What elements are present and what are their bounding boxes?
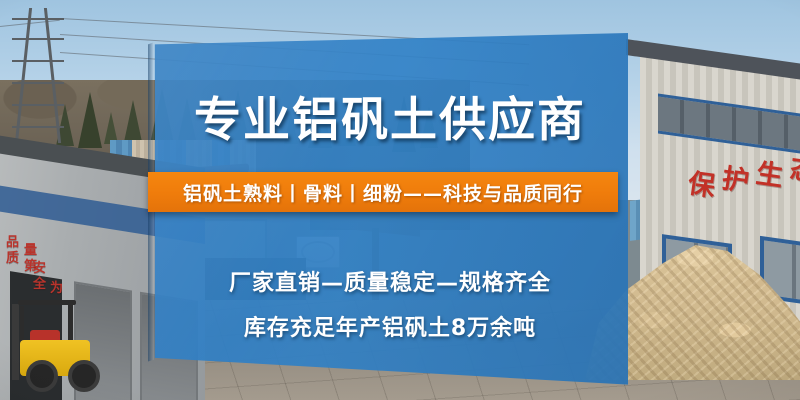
wall-sign-char: 品 [6, 236, 19, 249]
tree [78, 92, 102, 148]
wall-sign-char: 安 [33, 262, 46, 275]
wall-sign-char: 全 [33, 278, 46, 291]
wall-sign-char: 护 [720, 165, 750, 195]
power-pylon [8, 8, 68, 143]
wall-sign-char: 量 [24, 244, 37, 257]
clerestory-window [658, 94, 800, 155]
headline-title: 专业铝矾土供应商 [152, 95, 628, 147]
banner-content: 专业铝矾土供应商 铝矾土熟料丨骨料丨细粉——科技与品质同行 厂家直销—质量稳定—… [152, 33, 628, 390]
tree [124, 100, 142, 142]
forklift-mast [12, 304, 19, 380]
forklift-wheel [68, 360, 100, 392]
wall-sign-char: 生 [754, 160, 784, 190]
forklift-wheel [26, 360, 58, 392]
subline-one: 厂家直销—质量稳定—规格齐全 [152, 265, 628, 297]
subline-two: 库存充足年产铝矾土8万余吨 [152, 310, 628, 342]
forklift [12, 296, 108, 392]
orange-ribbon: 铝矾土熟料丨骨料丨细粉——科技与品质同行 [148, 172, 618, 212]
promo-banner: 品 质 量 第 安 全 为 保 护 生 态 [0, 0, 800, 400]
wall-sign-char: 保 [686, 170, 716, 200]
ribbon-text: 铝矾土熟料丨骨料丨细粉——科技与品质同行 [183, 179, 583, 206]
wall-sign-char: 为 [50, 282, 63, 295]
wall-sign-char: 质 [6, 252, 19, 265]
